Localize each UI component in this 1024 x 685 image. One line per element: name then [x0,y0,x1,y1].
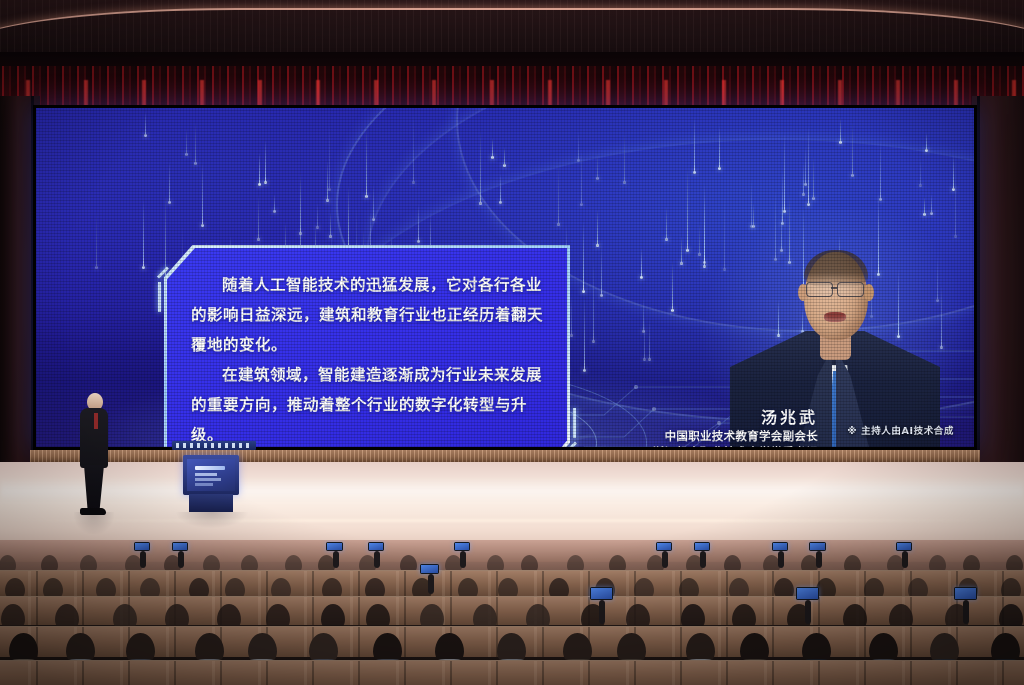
slide-text-panel: 随着人工智能技术的迅猛发展，它对各行各业的影响日益深远，建筑和教育行业也正经历着… [167,248,567,447]
podium-base [189,494,233,512]
stage-floor-sheen [0,478,1024,504]
audience-phone [896,542,912,551]
rain-drop [920,158,921,186]
rain-drop [143,199,144,268]
audience-phone [326,542,342,551]
podium-front-panel [187,459,235,491]
audience-phone [809,542,825,551]
rain-drop [624,131,625,183]
stage-presenter [78,393,112,516]
audience-raised-arm [700,551,706,568]
portrait-ear-right [864,284,874,301]
audience-phone [454,542,470,551]
screen-base-trim [30,450,980,462]
rain-drop [597,209,598,246]
rain-drop [687,166,688,251]
audience-phone [134,542,150,551]
audience-raised-arm [140,551,146,568]
podium-top [183,455,239,495]
rain-drop [880,140,881,200]
podium-text-line-3 [195,483,213,486]
rain-drop [186,128,187,155]
podium-text-line-2 [195,478,221,481]
speaker-name-block: 汤兆武 中国职业技术教育学会副会长 浙江机电职业技术大学党委书记 [602,408,818,447]
audience-raised-arm [963,600,969,624]
rain-drop [504,147,505,166]
rain-drop [583,221,584,292]
audience-raised-arm [374,551,380,568]
slide-paragraphs: 随着人工智能技术的迅猛发展，它对各行各业的影响日益深远，建筑和教育行业也正经历着… [191,270,543,447]
rain-drop [681,236,682,264]
audience-raised-arm [333,551,339,568]
audience-phone [368,542,384,551]
rain-drop [926,133,927,151]
slide-paragraph-2: 在建筑领域，智能建造逐渐成为行业未来发展的重要方向，推动着整个行业的数字化转型与… [191,360,543,447]
stage-floor [0,462,1024,548]
seat-row [0,660,1024,685]
portrait-glasses-bridge [831,287,837,289]
audience-raised-arm [428,574,434,594]
rain-drop [169,162,170,203]
audience-phone [772,542,788,551]
audience-phone [172,542,188,551]
rain-drop [784,132,785,212]
conference-stage-photo: 随着人工智能技术的迅猛发展，它对各行各业的影响日益深远，建筑和教育行业也正经历着… [0,0,1024,685]
rain-drop [641,248,642,278]
audience-raised-arm [599,600,605,624]
audience-raised-arm [178,551,184,568]
audience-raised-arm [816,551,822,568]
rain-drop [500,174,501,203]
rain-drop [373,184,374,220]
audience-phone [656,542,672,551]
stage-floor-light-strip [0,519,1024,522]
slide-paragraph-1: 随着人工智能技术的迅猛发展，它对各行各业的影响日益深远，建筑和教育行业也正经历着… [191,270,543,360]
audience-phone [420,564,439,574]
speaker-title-line-2: 浙江机电职业技术大学党委书记 [602,444,818,447]
rain-drop [96,211,97,268]
rain-drop [578,132,579,161]
portrait-glasses-right [837,282,864,297]
portrait-glasses-left [806,282,833,297]
speaker-title-line-1: 中国职业技术教育学会副会长 [602,428,818,444]
rain-drop [265,140,266,183]
corner-tick-bottom-right [573,408,576,438]
rain-drop [259,153,260,185]
rain-drop [317,203,318,228]
rain-drop [258,194,259,240]
rain-drop [413,114,414,183]
podium-logo [195,466,225,470]
audience-raised-arm [460,551,466,568]
rain-drop [694,117,695,173]
audience-phone [954,587,977,600]
rain-drop [581,148,582,205]
rain-drop [808,126,809,205]
podium [183,455,239,515]
ai-synthesis-note: ※ 主持人由AI技术合成 [847,423,954,437]
rain-drop [418,204,419,242]
rain-drop [953,155,954,190]
audience-raised-arm [805,600,811,624]
audience-raised-arm [902,551,908,568]
rain-drop [348,185,349,252]
speaker-name: 汤兆武 [602,408,818,428]
rain-drop [492,138,493,158]
rain-drop [366,127,367,197]
rain-drop [202,162,203,226]
presenter-shoes [80,508,106,515]
audience-raised-arm [778,551,784,568]
presenter-legs [84,465,104,510]
rain-drop [601,246,602,296]
rain-drop [300,179,301,234]
rain-drop [852,122,853,176]
rain-drop [274,194,275,212]
rain-drop [719,126,720,169]
screen-bottom-logo-text [176,443,250,448]
audience-phone [590,587,613,600]
rain-drop [840,118,841,143]
rain-drop [195,122,196,164]
base-wood-grain [30,450,980,462]
rain-drop [558,162,559,225]
rain-drop [666,206,667,240]
stage-curtain [0,52,1024,110]
rain-drop [805,146,806,185]
audience-seating [0,540,1024,685]
corner-tick-top-left [158,282,161,312]
presenter-tie [94,413,98,429]
rain-drop [597,153,598,179]
rain-drop [803,162,804,195]
rain-drop [327,160,328,201]
audience-phone [694,542,710,551]
audience-phone [796,587,819,600]
portrait-mouth [824,312,846,322]
rain-drop [480,130,481,204]
seat-row [0,596,1024,625]
rain-drop [813,156,814,199]
led-screen-frame: 随着人工智能技术的迅猛发展，它对各行各业的影响日益深远，建筑和教育行业也正经历着… [33,105,977,450]
led-screen: 随着人工智能技术的迅猛发展，它对各行各业的影响日益深远，建筑和教育行业也正经历着… [36,108,974,447]
audience-raised-arm [662,551,668,568]
rain-drop [145,112,146,136]
podium-text-line-1 [195,473,217,476]
rain-drop [329,125,330,190]
